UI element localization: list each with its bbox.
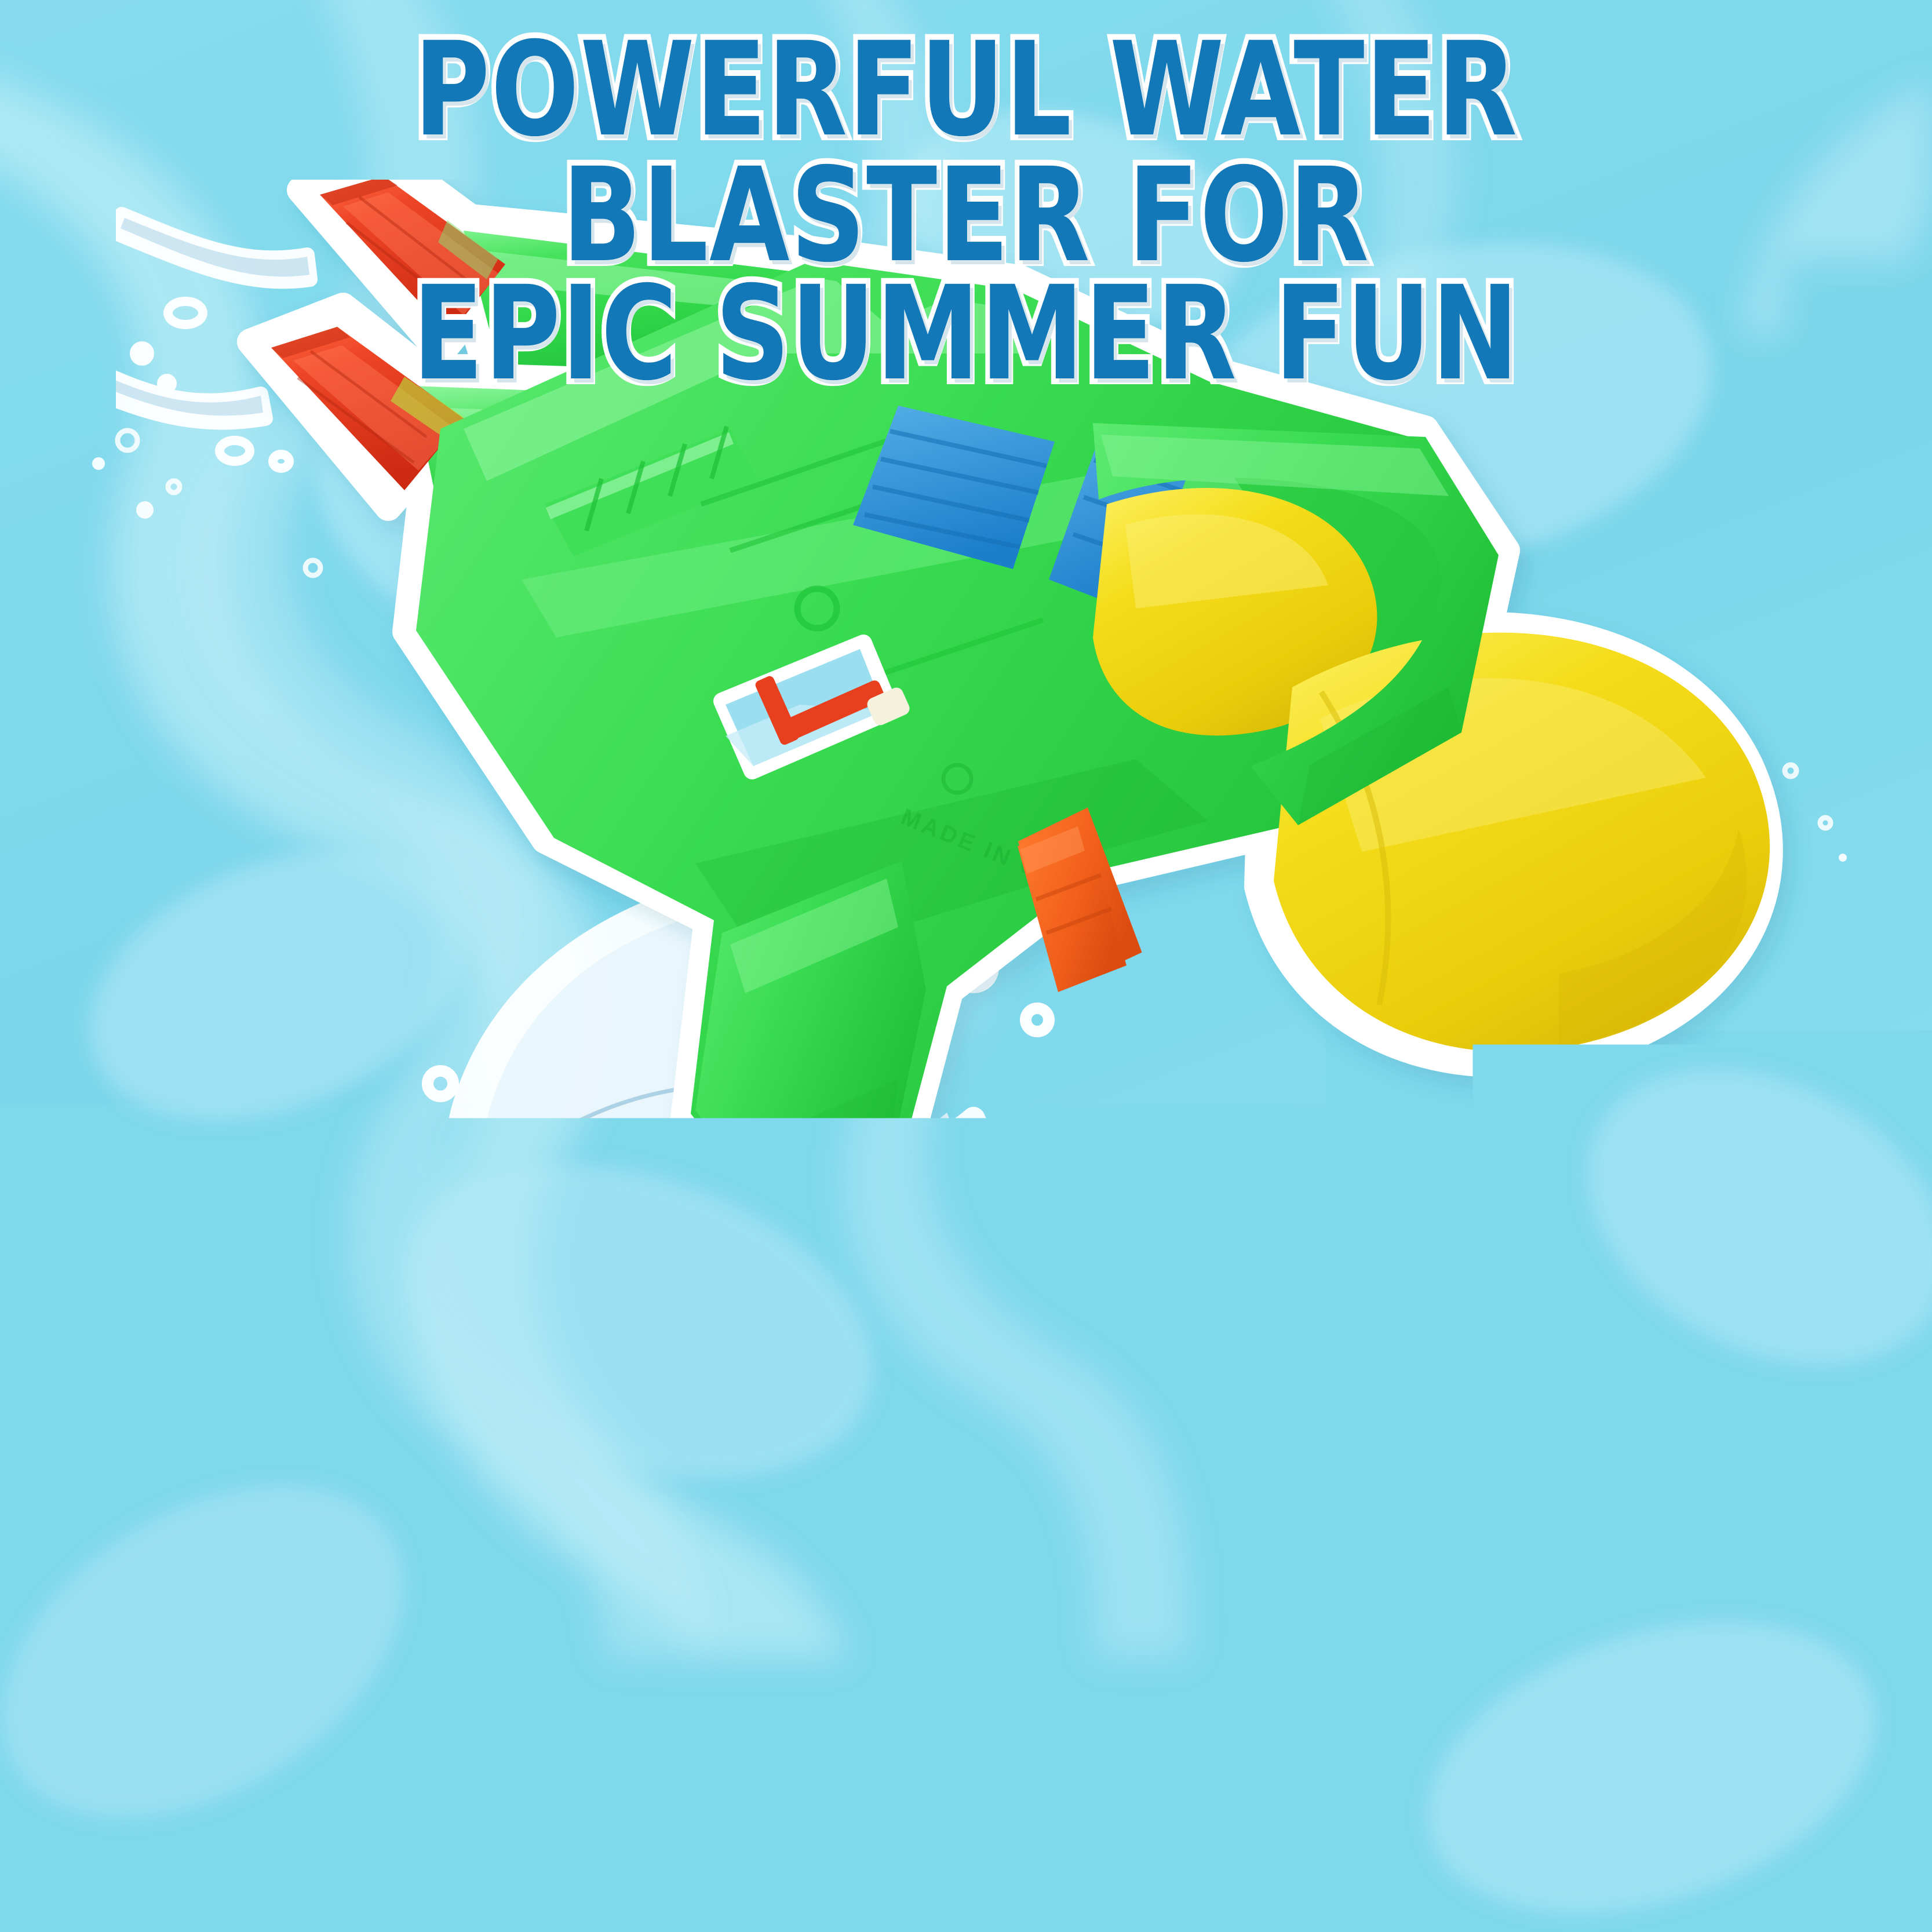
- feature-line-2: & TRIGGER: [197, 1510, 783, 1572]
- feature-item-grip-handle: EASY GRIP HANDLE & TRIGGER: [52, 1445, 805, 1579]
- feature-line-1: UP TO 16FT: [197, 1284, 732, 1346]
- feature-text-grip-handle: EASY GRIP HANDLE & TRIGGER: [197, 1445, 783, 1572]
- tagline-line-2: -STAY COOL, STAY ACTIVE!: [795, 1798, 1891, 1881]
- tagline-line-1: MAKE A SPLASH THIS SUMMER: [795, 1715, 1891, 1798]
- feature-item-firing-range: UP TO 16FT FIRING RANGE: [52, 1282, 805, 1415]
- feature-text-firing-range: UP TO 16FT FIRING RANGE: [197, 1282, 732, 1408]
- target-bullseye-icon: [52, 1292, 197, 1414]
- water-drop-icon: [52, 1129, 197, 1251]
- thumbs-up-icon: [52, 1456, 197, 1577]
- feature-item-water-tank: 750ML LARGE WATER TANK: [52, 1118, 805, 1252]
- water-gun-icon: [52, 1619, 197, 1741]
- tagline: MAKE A SPLASH THIS SUMMER -STAY COOL, ST…: [586, 1715, 1891, 1881]
- feature-line-2: FIRING RANGE: [197, 1346, 732, 1408]
- product-marketing-image: POWERFUL WATER BLASTER FOR EPIC SUMMER F…: [0, 0, 1932, 1932]
- feature-list: 750ML LARGE WATER TANK UP TO 16FT FIRING…: [52, 1118, 805, 1772]
- feature-text-water-tank: 750ML LARGE WATER TANK: [197, 1118, 732, 1245]
- feature-line-1: 750ML LARGE: [197, 1121, 732, 1183]
- feature-line-1: PERFECT FOR: [197, 1611, 732, 1673]
- feature-line-2: WATER TANK: [197, 1183, 732, 1245]
- feature-line-1: EASY GRIP HANDLE: [197, 1448, 783, 1510]
